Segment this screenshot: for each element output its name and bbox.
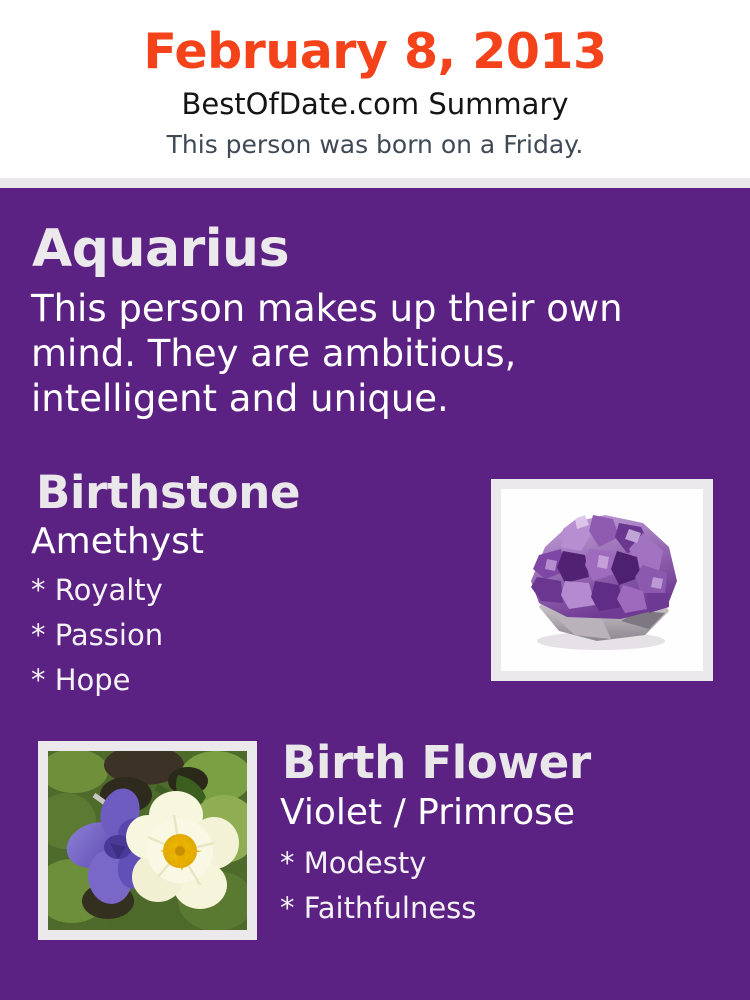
site-summary-label: BestOfDate.com Summary bbox=[0, 86, 750, 122]
list-item: * Passion bbox=[31, 613, 461, 658]
birthstone-photo bbox=[501, 489, 703, 671]
zodiac-sign-name: Aquarius bbox=[32, 218, 289, 280]
birth-flower-trait-list: * Modesty * Faithfulness bbox=[280, 841, 720, 931]
violet-and-primrose-icon bbox=[48, 751, 247, 930]
list-item: * Modesty bbox=[280, 841, 720, 886]
birth-flower-heading: Birth Flower bbox=[282, 736, 591, 790]
birth-flower-photo bbox=[48, 751, 247, 930]
page-title-date: February 8, 2013 bbox=[0, 22, 750, 82]
summary-card: February 8, 2013 BestOfDate.com Summary … bbox=[0, 0, 750, 1000]
birthstone-name: Amethyst bbox=[31, 520, 204, 564]
header: February 8, 2013 BestOfDate.com Summary … bbox=[0, 0, 750, 178]
list-item: * Faithfulness bbox=[280, 886, 720, 931]
list-item: * Hope bbox=[31, 658, 461, 703]
zodiac-description: This person makes up their own mind. The… bbox=[31, 286, 681, 421]
birth-flower-name: Violet / Primrose bbox=[280, 791, 575, 835]
birthstone-photo-frame bbox=[491, 479, 713, 681]
header-divider bbox=[0, 178, 750, 188]
birth-flower-photo-frame bbox=[38, 741, 257, 940]
amethyst-crystal-icon bbox=[501, 489, 703, 671]
list-item: * Royalty bbox=[31, 568, 461, 613]
birthstone-heading: Birthstone bbox=[36, 466, 300, 520]
birthstone-trait-list: * Royalty * Passion * Hope bbox=[31, 568, 461, 703]
day-of-week-line: This person was born on a Friday. bbox=[0, 129, 750, 161]
